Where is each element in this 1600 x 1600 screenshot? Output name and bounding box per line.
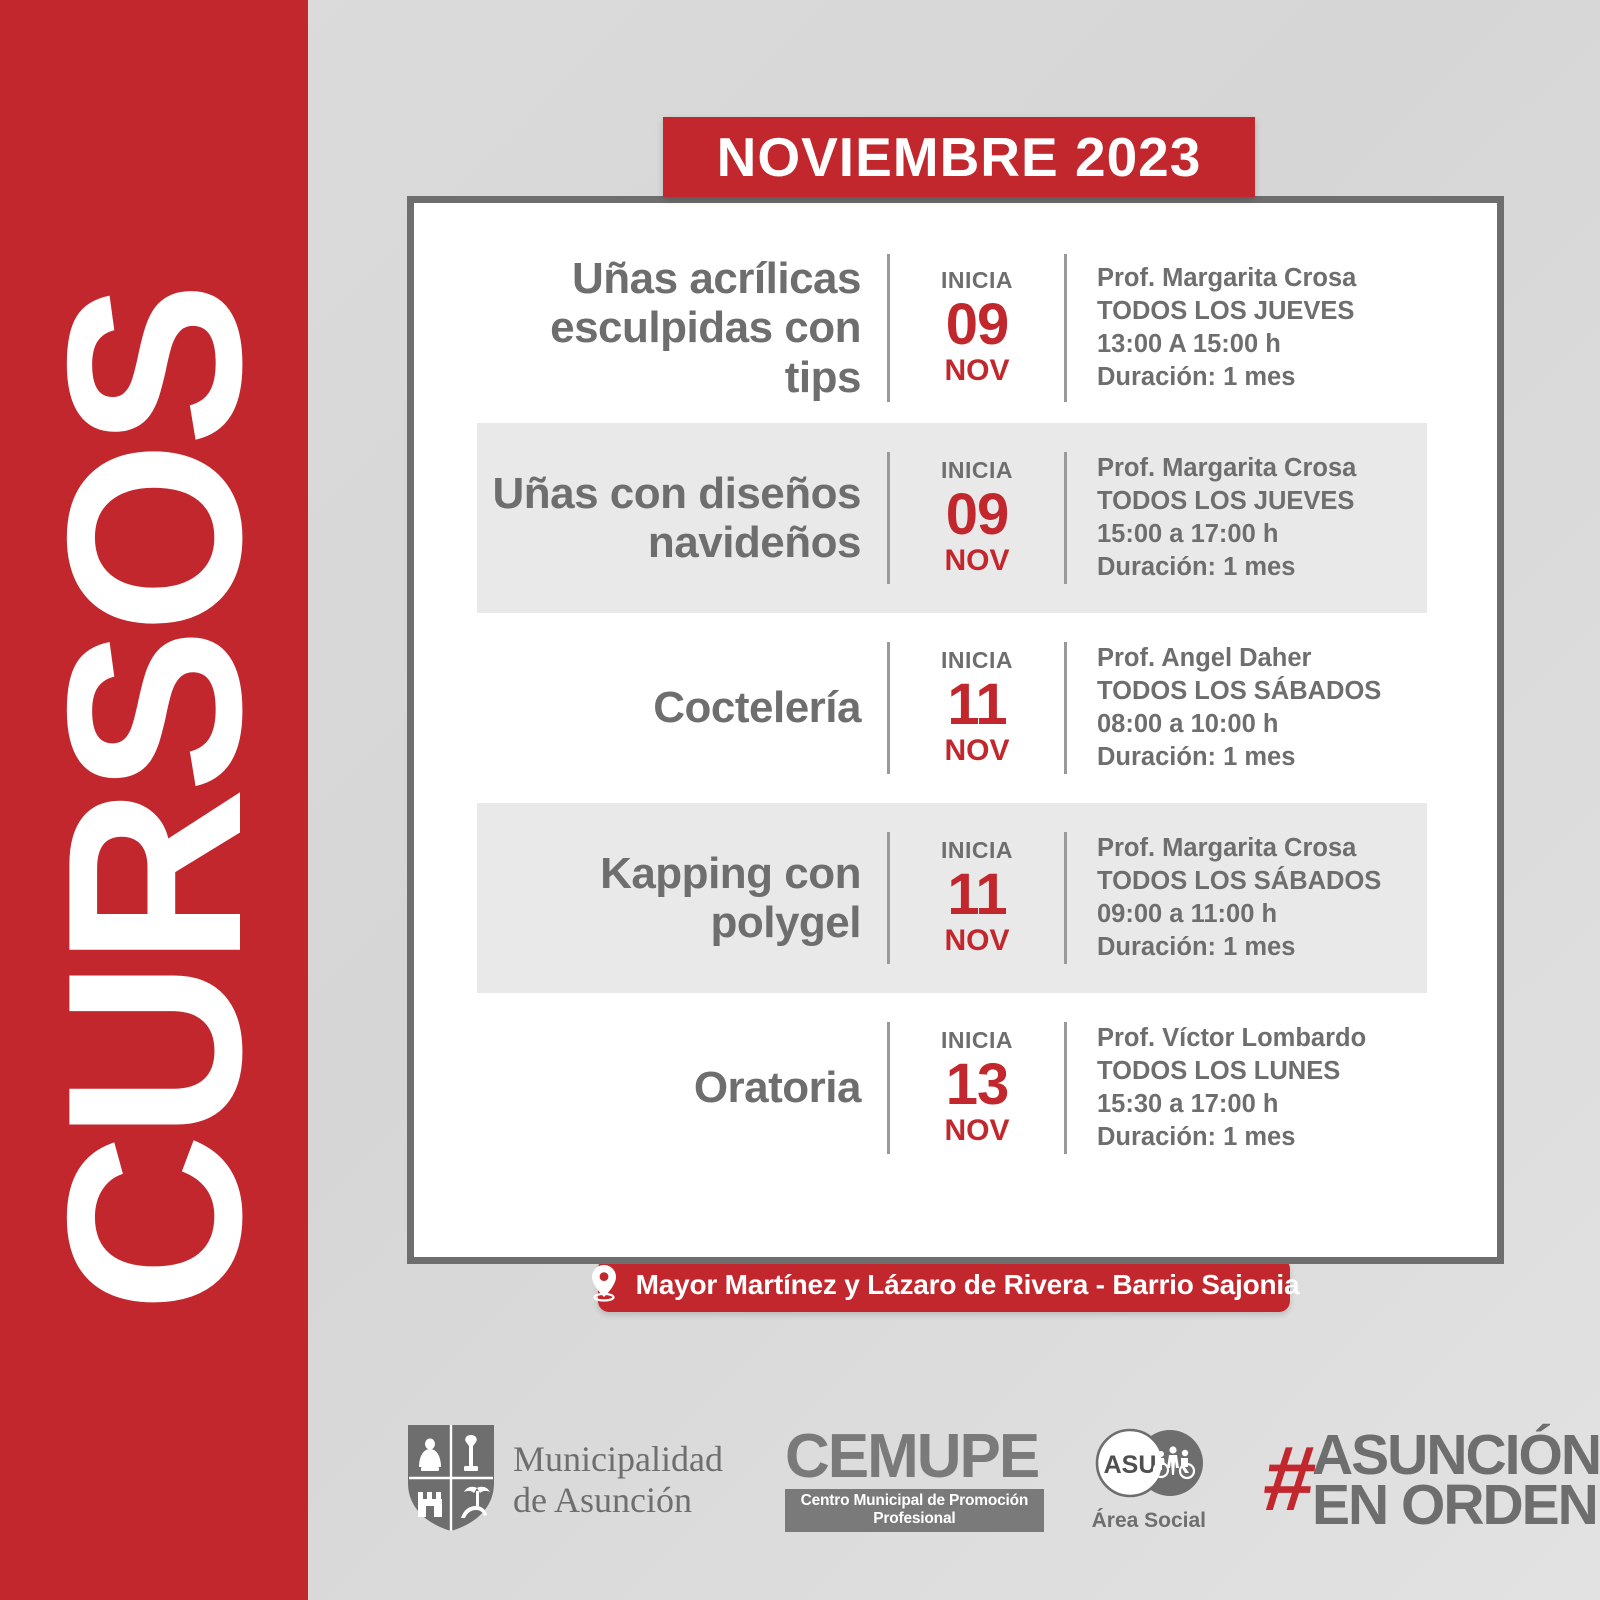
course-duration: Duración: 1 mes (1097, 741, 1427, 774)
start-month-abbr: NOV (902, 544, 1052, 577)
course-name-line1: Uñas acrílicas (474, 254, 861, 303)
hashtag-line2: EN ORDEN (1312, 1480, 1600, 1530)
poster-canvas: CURSOS NOVIEMBRE 2023 Uñas acrílicasescu… (0, 0, 1600, 1600)
course-row: Kapping conpolygelINICIA11NOVProf. Marga… (414, 803, 1497, 993)
course-professor: Prof. Angel Daher (1097, 642, 1427, 675)
course-professor: Prof. Margarita Crosa (1097, 452, 1427, 485)
course-row-inner: OratoriaINICIA13NOVProf. Víctor Lombardo… (414, 1022, 1497, 1155)
svg-text:ASU: ASU (1103, 1451, 1156, 1479)
course-duration: Duración: 1 mes (1097, 1121, 1427, 1154)
month-banner: NOVIEMBRE 2023 (663, 117, 1255, 197)
location-pin-icon (589, 1264, 619, 1307)
sidebar-title: CURSOS (30, 287, 278, 1312)
hashtag-symbol: # (1260, 1442, 1314, 1517)
course-name-line1: Oratoria (474, 1063, 861, 1112)
start-date-block: INICIA11NOV (890, 839, 1064, 957)
asu-label: Área Social (1090, 1509, 1208, 1533)
course-professor: Prof. Víctor Lombardo (1097, 1022, 1427, 1055)
course-name-line2: esculpidas con tips (474, 303, 861, 402)
course-weekdays: TODOS LOS LUNES (1097, 1055, 1427, 1088)
inicia-label: INICIA (902, 839, 1052, 862)
start-month-abbr: NOV (902, 734, 1052, 767)
course-name-line1: Uñas con diseños (474, 469, 861, 518)
inicia-label: INICIA (902, 649, 1052, 672)
municipalidad-line2: de Asunción (513, 1480, 723, 1521)
course-professor: Prof. Margarita Crosa (1097, 262, 1427, 295)
course-duration: Duración: 1 mes (1097, 931, 1427, 964)
inicia-label: INICIA (902, 459, 1052, 482)
course-row: Uñas con diseñosnavideñosINICIA09NOVProf… (414, 423, 1497, 613)
course-name-line2: polygel (474, 898, 861, 947)
start-month-abbr: NOV (902, 1114, 1052, 1147)
course-name: Kapping conpolygel (474, 849, 887, 948)
course-weekdays: TODOS LOS JUEVES (1097, 485, 1427, 518)
course-weekdays: TODOS LOS SÁBADOS (1097, 675, 1427, 708)
asuncion-coat-of-arms-icon (405, 1422, 497, 1539)
course-details: Prof. Angel DaherTODOS LOS SÁBADOS08:00 … (1067, 642, 1427, 775)
cemupe-tagline: Centro Municipal de Promoción Profesiona… (785, 1489, 1044, 1532)
course-name-line1: Coctelería (474, 683, 861, 732)
course-details: Prof. Margarita CrosaTODOS LOS SÁBADOS09… (1067, 832, 1427, 965)
cemupe-wordmark: CEMUPE (785, 1428, 1044, 1487)
course-details: Prof. Margarita CrosaTODOS LOS JUEVES15:… (1067, 452, 1427, 585)
course-weekdays: TODOS LOS SÁBADOS (1097, 865, 1427, 898)
course-name: Uñas con diseñosnavideños (474, 469, 887, 568)
course-details: Prof. Margarita CrosaTODOS LOS JUEVES13:… (1067, 262, 1427, 395)
logo-municipalidad: Municipalidad de Asunción (405, 1422, 723, 1539)
address-bar[interactable]: Mayor Martínez y Lázaro de Rivera - Barr… (598, 1258, 1290, 1312)
course-duration: Duración: 1 mes (1097, 551, 1427, 584)
course-row-inner: Uñas acrílicasesculpidas con tipsINICIA0… (414, 254, 1497, 402)
course-details: Prof. Víctor LombardoTODOS LOS LUNES15:3… (1067, 1022, 1427, 1155)
sidebar-red-bar: CURSOS (0, 0, 308, 1600)
course-time: 09:00 a 11:00 h (1097, 898, 1427, 931)
course-row: OratoriaINICIA13NOVProf. Víctor Lombardo… (414, 993, 1497, 1183)
course-name: Uñas acrílicasesculpidas con tips (474, 254, 887, 402)
course-time: 15:30 a 17:00 h (1097, 1088, 1427, 1121)
course-time: 08:00 a 10:00 h (1097, 708, 1427, 741)
start-date-block: INICIA09NOV (890, 459, 1064, 577)
start-date-block: INICIA09NOV (890, 269, 1064, 387)
course-name: Oratoria (474, 1063, 887, 1112)
course-row-inner: CocteleríaINICIA11NOVProf. Angel DaherTO… (414, 642, 1497, 775)
logo-asuncion-en-orden: # ASUNCIÓN EN ORDEN (1264, 1430, 1600, 1530)
municipalidad-text: Municipalidad de Asunción (513, 1439, 723, 1522)
start-month-abbr: NOV (902, 354, 1052, 387)
start-day-number: 09 (902, 296, 1052, 354)
start-date-block: INICIA11NOV (890, 649, 1064, 767)
course-name: Coctelería (474, 683, 887, 732)
course-duration: Duración: 1 mes (1097, 361, 1427, 394)
logo-asu-area-social: ASU Área Social (1090, 1427, 1208, 1533)
course-row: Uñas acrílicasesculpidas con tipsINICIA0… (414, 233, 1497, 423)
course-row-inner: Kapping conpolygelINICIA11NOVProf. Marga… (414, 832, 1497, 965)
start-day-number: 13 (902, 1056, 1052, 1114)
municipalidad-line1: Municipalidad (513, 1439, 723, 1480)
start-day-number: 11 (902, 866, 1052, 924)
course-name-line1: Kapping con (474, 849, 861, 898)
courses-card: Uñas acrílicasesculpidas con tipsINICIA0… (407, 196, 1504, 1264)
course-weekdays: TODOS LOS JUEVES (1097, 295, 1427, 328)
start-day-number: 11 (902, 676, 1052, 734)
start-day-number: 09 (902, 486, 1052, 544)
start-date-block: INICIA13NOV (890, 1029, 1064, 1147)
course-professor: Prof. Margarita Crosa (1097, 832, 1427, 865)
logo-cemupe: CEMUPE Centro Municipal de Promoción Pro… (785, 1428, 1044, 1532)
course-time: 15:00 a 17:00 h (1097, 518, 1427, 551)
course-row-inner: Uñas con diseñosnavideñosINICIA09NOVProf… (414, 452, 1497, 585)
start-month-abbr: NOV (902, 924, 1052, 957)
course-time: 13:00 A 15:00 h (1097, 328, 1427, 361)
course-row: CocteleríaINICIA11NOVProf. Angel DaherTO… (414, 613, 1497, 803)
hashtag-words: ASUNCIÓN EN ORDEN (1312, 1430, 1600, 1530)
month-banner-text: NOVIEMBRE 2023 (717, 130, 1202, 185)
footer-logos: Municipalidad de Asunción CEMUPE Centro … (330, 1390, 1600, 1570)
inicia-label: INICIA (902, 1029, 1052, 1052)
address-text: Mayor Martínez y Lázaro de Rivera - Barr… (636, 1269, 1300, 1301)
inicia-label: INICIA (902, 269, 1052, 292)
course-name-line2: navideños (474, 518, 861, 567)
asu-venn-icon: ASU (1090, 1486, 1208, 1503)
courses-list: Uñas acrílicasesculpidas con tipsINICIA0… (414, 203, 1497, 1257)
